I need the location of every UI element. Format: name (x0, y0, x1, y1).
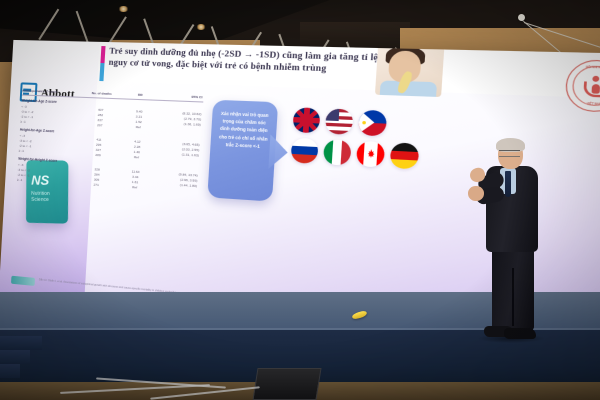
presenter-leg-split (512, 268, 514, 326)
mortality-risk-table: Anthropometric Z-score No. of deaths RR … (17, 88, 204, 194)
country-flags-group (290, 107, 427, 175)
philippines-flag-icon (358, 110, 387, 137)
united-kingdom-flag-icon (292, 107, 320, 133)
stage-step-3 (0, 364, 20, 378)
cell-deaths: 297 (82, 122, 117, 129)
cell-ci (158, 159, 199, 161)
italy-flag-icon (323, 139, 352, 166)
cell-rr: Ref (117, 124, 159, 131)
cell-ci (156, 190, 197, 193)
russia-flag-icon (290, 138, 318, 164)
col-header-3: 95% CI (161, 94, 202, 101)
child-eating-banana-photo (375, 46, 444, 97)
canada-flag-icon (356, 141, 385, 168)
cell-deaths: 289 (80, 152, 115, 159)
presenter-shoe-right (504, 328, 536, 339)
product-subtitle: Nutrition Science (31, 191, 61, 204)
united-states-flag-icon (325, 108, 354, 134)
presenter-tie (505, 171, 511, 197)
presenter-figure (470, 140, 548, 345)
col-header-2: RR (119, 92, 161, 99)
flag-row-2 (290, 138, 425, 170)
col-header-1: No. of deaths (84, 91, 119, 97)
conference-photo-scene: Abbott NS Nutrition Science Trẻ suy dinh… (0, 0, 600, 400)
stage-step-1 (0, 336, 42, 350)
downlight-1 (118, 6, 129, 12)
flag-row-1 (292, 107, 427, 138)
col-header-0: Anthropometric Z-score (22, 88, 84, 95)
rope-knob-3 (518, 14, 525, 21)
presenter-hand-lower (468, 186, 484, 201)
germany-flag-icon (390, 142, 420, 169)
eyeglasses-icon (499, 150, 520, 157)
callout-text: Xác nhận vai trò quan trọng của chăm sóc… (216, 110, 272, 151)
cell-ci (159, 129, 200, 131)
floor-monitor-speaker (252, 368, 321, 400)
seal-child (591, 84, 600, 94)
cell-rr: Ref (115, 154, 157, 162)
key-message-callout: Xác nhận vai trò quan trọng của chăm sóc… (207, 100, 278, 202)
stage-step-2 (0, 350, 30, 364)
seal-family-figure-icon (583, 76, 600, 97)
